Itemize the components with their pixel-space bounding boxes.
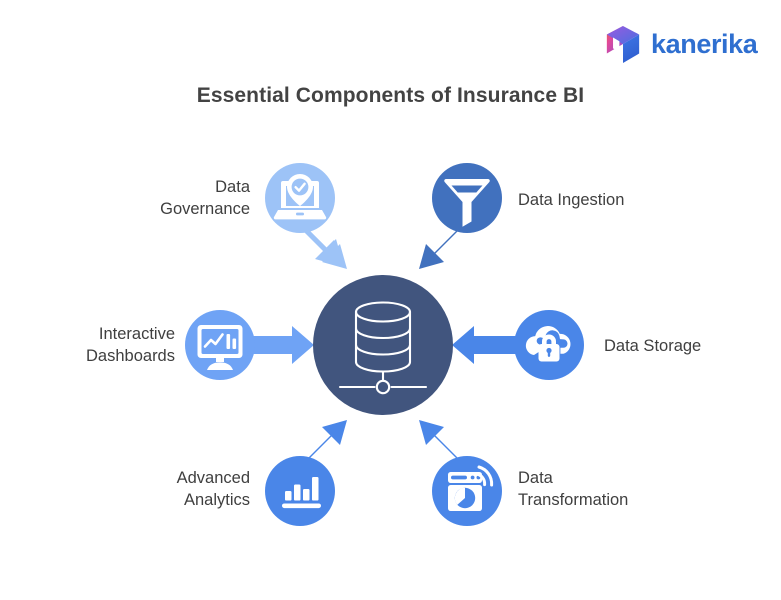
label-interactive-dashboards: Interactive Dashboards bbox=[0, 324, 175, 368]
label-data-governance: Data Governance bbox=[60, 177, 250, 221]
label-advanced-analytics: Advanced Analytics bbox=[55, 468, 250, 512]
infographic-canvas: kanerika Essential Components of Insuran… bbox=[0, 0, 781, 600]
node-advanced-analytics[interactable] bbox=[265, 456, 335, 526]
node-data-transformation[interactable] bbox=[432, 456, 502, 526]
node-data-governance[interactable] bbox=[265, 163, 335, 233]
label-data-storage: Data Storage bbox=[604, 336, 779, 358]
node-data-ingestion[interactable] bbox=[432, 163, 502, 233]
node-interactive-dashboards[interactable] bbox=[185, 310, 255, 380]
label-data-transformation: Data Transformation bbox=[518, 468, 738, 512]
node-data-storage[interactable] bbox=[514, 310, 584, 380]
label-data-ingestion: Data Ingestion bbox=[518, 190, 738, 212]
hub-node-database[interactable] bbox=[313, 275, 453, 415]
arrow-storage-to-hub bbox=[452, 326, 523, 364]
